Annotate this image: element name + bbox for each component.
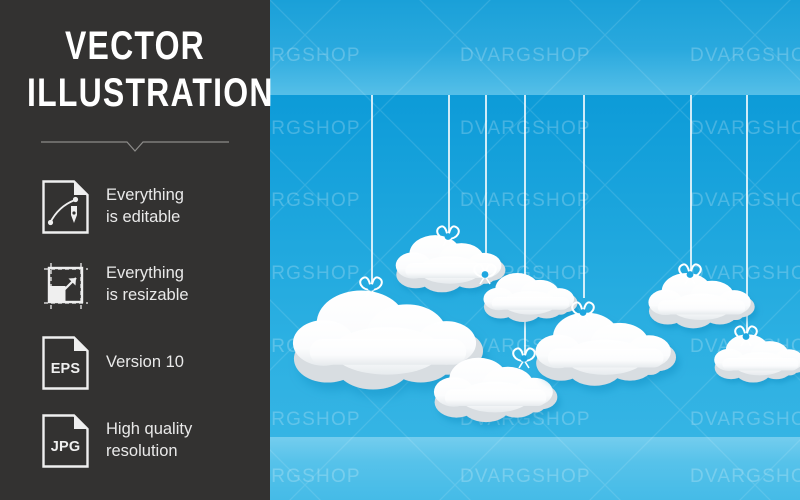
- svg-text:EPS: EPS: [51, 361, 81, 377]
- cloud-string-knot: [667, 259, 713, 285]
- info-sidebar: VECTOR ILLUSTRATION Everything is editab…: [0, 0, 270, 500]
- feature-item-3: EPS Version 10: [0, 324, 270, 402]
- resize-crop-icon: [41, 257, 90, 313]
- cloud-string-knot: [723, 321, 769, 347]
- clouds-layer: [270, 0, 800, 500]
- svg-text:JPG: JPG: [51, 439, 81, 455]
- feature-label: Everything is editable: [106, 185, 184, 229]
- eps-file-icon: EPS: [41, 335, 90, 391]
- page-title: VECTOR ILLUSTRATION: [0, 26, 270, 114]
- feature-item-4: JPG High quality resolution: [0, 402, 270, 480]
- cloud-string-knot: [348, 272, 394, 298]
- feature-label: High quality resolution: [106, 419, 192, 463]
- feature-label: Version 10: [106, 352, 184, 374]
- title-line-primary: VECTOR: [27, 26, 243, 67]
- cloud-string-knot: [425, 221, 471, 247]
- title-line-secondary: ILLUSTRATION: [27, 73, 243, 114]
- feature-item-1: Everything is editable: [0, 168, 270, 246]
- feature-label: Everything is resizable: [106, 263, 189, 307]
- cloud-string-knot: [462, 259, 508, 285]
- illustration-preview: DVARGSHOPDVARGSHOPDVARGSHOPDVARGSHOPDVAR…: [0, 0, 800, 500]
- jpg-file-icon: JPG: [41, 413, 90, 469]
- cloud-string-knot: [560, 297, 606, 323]
- sky-artwork-panel: DVARGSHOPDVARGSHOPDVARGSHOPDVARGSHOPDVAR…: [270, 0, 800, 500]
- pen-tool-file-icon: [41, 179, 90, 235]
- feature-list: Everything is editable Everything is res…: [0, 168, 270, 480]
- title-divider: [41, 141, 229, 153]
- cloud-right-lower: [710, 330, 800, 384]
- feature-item-2: Everything is resizable: [0, 246, 270, 324]
